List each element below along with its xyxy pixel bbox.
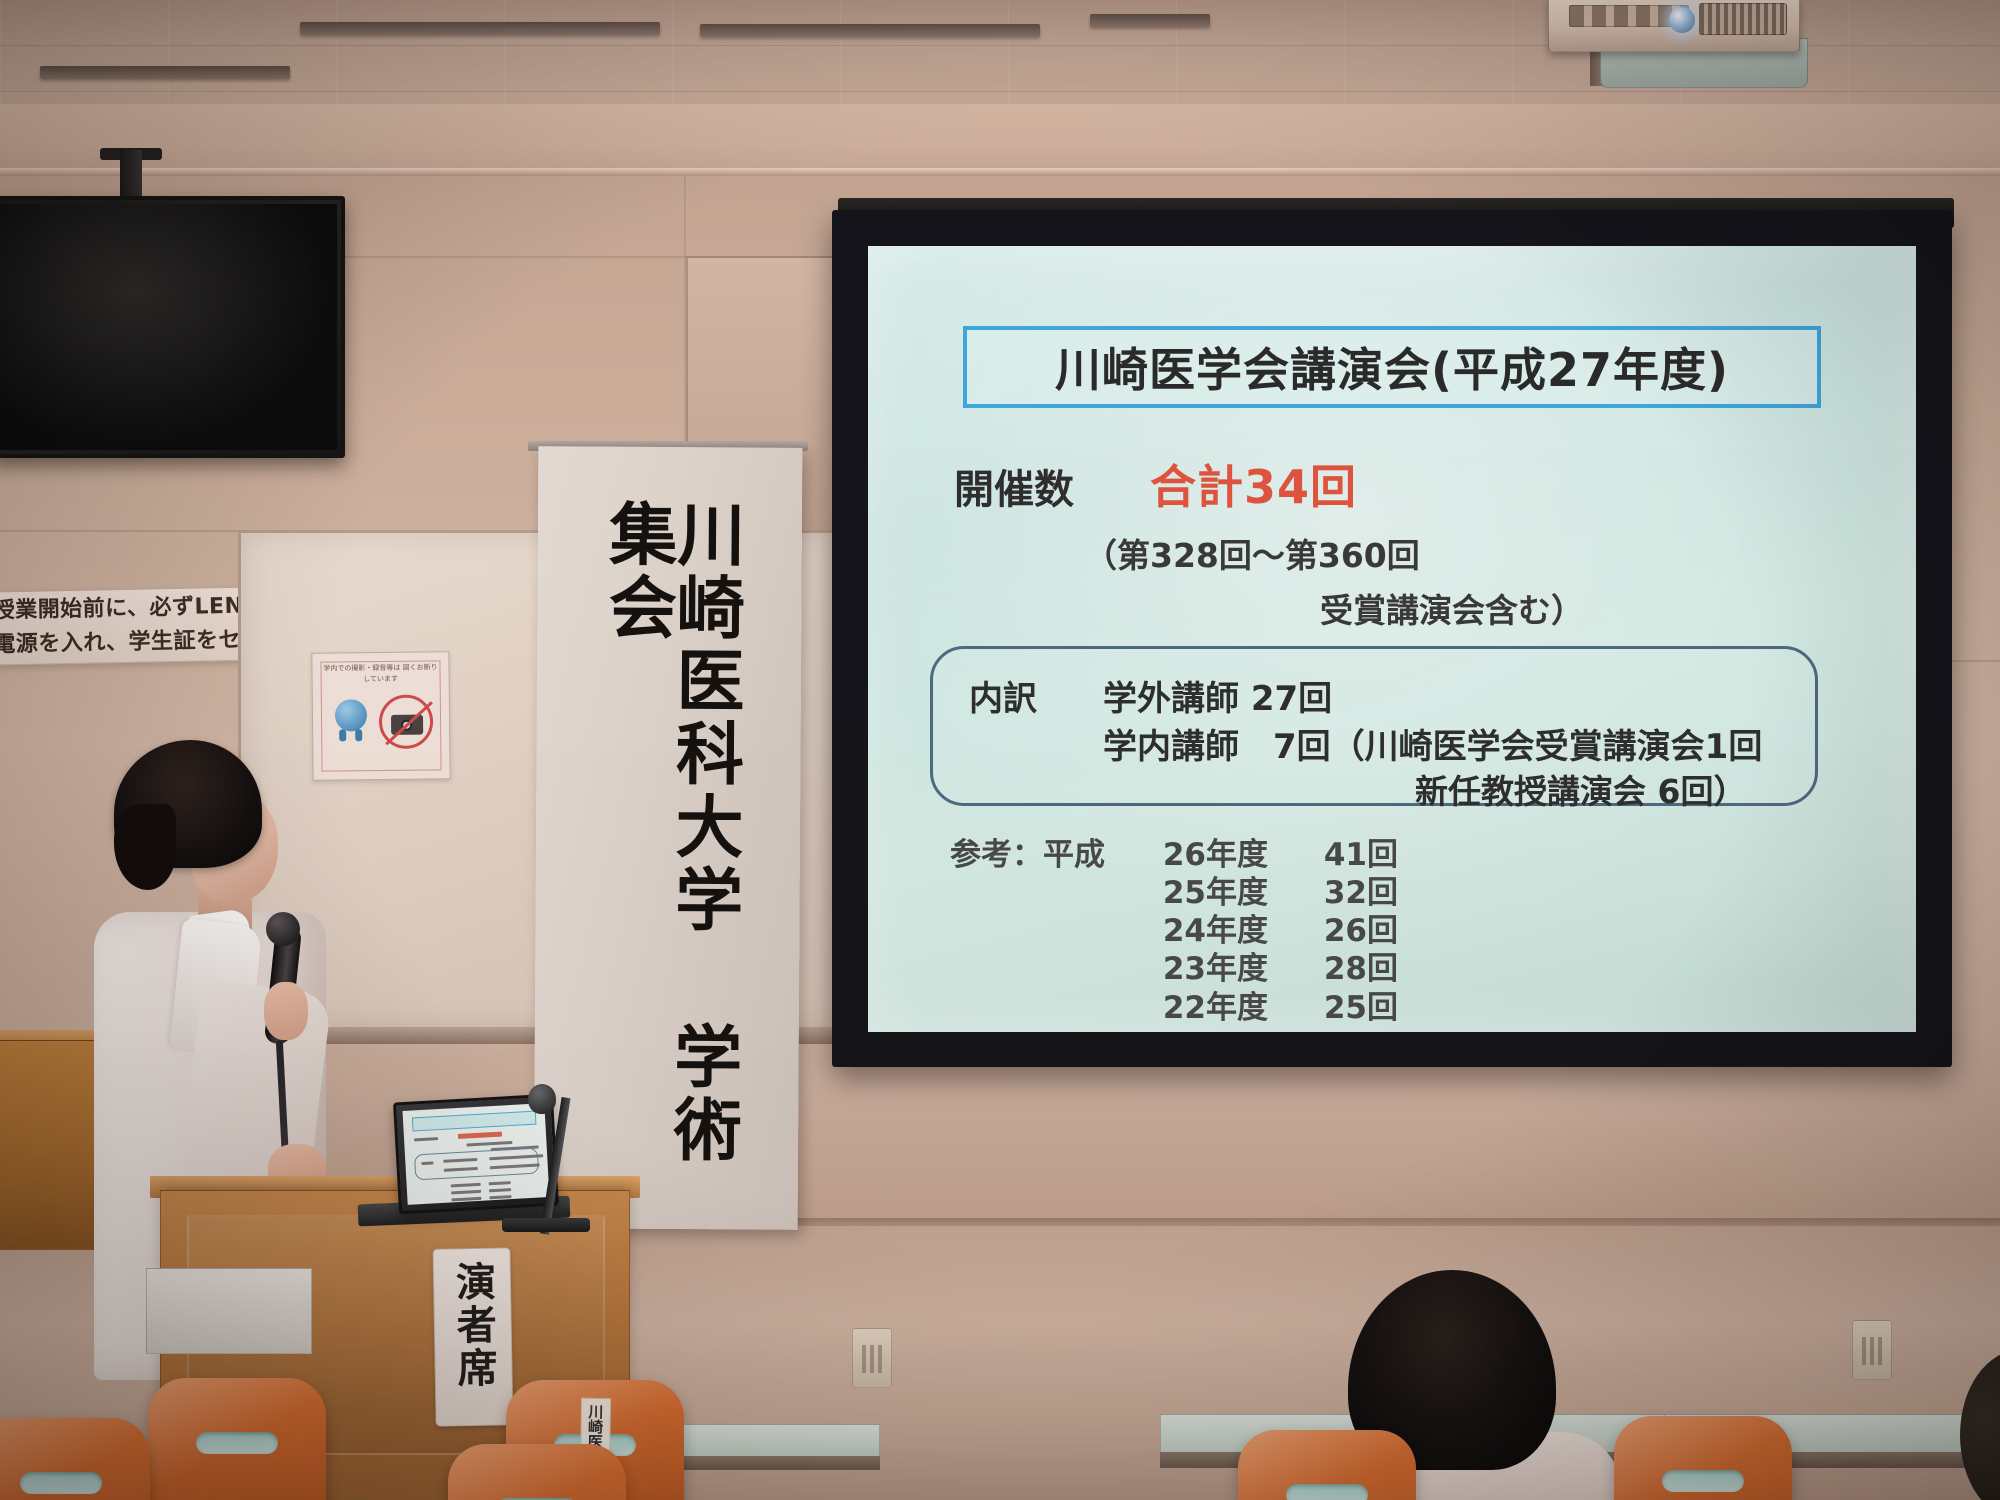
session-range-note: 受賞講演会含む） bbox=[1320, 584, 1584, 632]
lecture-hall-photo: 授業開始前に、必ずLENON端末の 電源を入れ、学生証をセットすること。 学内で… bbox=[0, 0, 2000, 1500]
laptop-mini-line bbox=[489, 1188, 511, 1192]
wall-power-outlet bbox=[1852, 1320, 1892, 1380]
chair-back-handle bbox=[20, 1472, 102, 1494]
breakdown-new-professor-lectures: 新任教授講演会 6回） bbox=[1415, 765, 1746, 813]
session-count-row: 開催数 合計34回 bbox=[954, 451, 1357, 517]
microphone-stand-base bbox=[502, 1218, 590, 1232]
laptop-mini-line bbox=[489, 1181, 511, 1185]
chair-back-handle bbox=[1662, 1470, 1744, 1492]
chair-highlight bbox=[448, 1444, 626, 1500]
breakdown-external-lecturers: 学外講師 27回 bbox=[1103, 671, 1332, 720]
reference-value: 25回 bbox=[1268, 989, 1398, 1027]
slide-title-box: 川崎医学会講演会(平成27年度) bbox=[963, 326, 1821, 408]
display-screen-off bbox=[0, 204, 337, 450]
reference-row: 23年度 28回 bbox=[950, 950, 1398, 988]
reference-row: 24年度 26回 bbox=[950, 912, 1398, 950]
audience-chair bbox=[448, 1444, 626, 1500]
reference-year: 23年度 bbox=[1096, 950, 1268, 988]
mascot-leg bbox=[355, 729, 362, 741]
reference-year: 25年度 bbox=[1096, 874, 1268, 912]
presenter-hair-side bbox=[114, 804, 176, 890]
microphone-head-icon bbox=[266, 912, 300, 946]
wall-seam bbox=[1952, 660, 2000, 662]
no-photography-caption: 学内での撮影・録音等は 固くお断りしています bbox=[322, 662, 438, 689]
projector-vent bbox=[1699, 3, 1787, 35]
laptop-mini-line bbox=[451, 1183, 481, 1188]
ceiling-light-slot bbox=[1090, 14, 1210, 27]
session-count-label: 開催数 bbox=[954, 457, 1074, 515]
speaker-seat-label: 演者席 bbox=[443, 1261, 503, 1391]
audience-chair bbox=[1614, 1416, 1792, 1500]
podium-microphone-head-icon bbox=[528, 1084, 556, 1114]
laptop-mini-accent-line bbox=[458, 1132, 502, 1139]
soffit-lip bbox=[0, 168, 2000, 176]
speaker-seat-sign: 演者席 bbox=[432, 1247, 513, 1426]
mascot-character-icon bbox=[331, 697, 372, 745]
projected-slide: 川崎医学会講演会(平成27年度) 開催数 合計34回 （第328回～第360回 … bbox=[868, 246, 1916, 1032]
reference-row: 参考：平成 26年度 41回 bbox=[950, 836, 1398, 874]
audience-chair bbox=[148, 1378, 326, 1500]
laptop-mini-line bbox=[466, 1141, 512, 1147]
ceiling-projector bbox=[1548, 0, 1800, 52]
reference-value: 32回 bbox=[1268, 874, 1398, 912]
reference-year: 24年度 bbox=[1096, 912, 1268, 950]
breakdown-internal-lecturers: 学内講師 7回（川崎医学会受賞講演会1回 bbox=[1103, 719, 1762, 768]
reference-value: 26回 bbox=[1268, 912, 1398, 950]
reference-value: 41回 bbox=[1268, 836, 1398, 874]
no-camera-icon bbox=[379, 694, 434, 749]
wall-mounted-display bbox=[0, 196, 345, 458]
audience-chair bbox=[1238, 1430, 1416, 1500]
projector-lens-icon bbox=[1669, 7, 1695, 33]
reference-row: 22年度 25回 bbox=[950, 989, 1398, 1027]
slide-title: 川崎医学会講演会(平成27年度) bbox=[1055, 334, 1729, 400]
reference-history-table: 参考：平成 26年度 41回 25年度 32回 24年度 26回 23年度 28… bbox=[950, 836, 1398, 1027]
presenter-hand-holding-mic bbox=[264, 982, 308, 1040]
white-equipment-box bbox=[146, 1268, 312, 1354]
chair-back-handle bbox=[1286, 1484, 1368, 1500]
reference-year: 22年度 bbox=[1096, 989, 1268, 1027]
laptop-mini-line bbox=[451, 1197, 481, 1202]
wall-power-outlet bbox=[852, 1328, 892, 1388]
laptop-mini-line bbox=[451, 1190, 481, 1195]
reference-row: 25年度 32回 bbox=[950, 874, 1398, 912]
session-count-total: 合計34回 bbox=[1150, 451, 1357, 517]
ceiling-light-slot bbox=[300, 22, 660, 35]
breakdown-box: 内訳 学外講師 27回 学内講師 7回（川崎医学会受賞講演会1回 新任教授講演会… bbox=[930, 646, 1818, 806]
chair-back-handle bbox=[196, 1432, 278, 1454]
reference-value: 28回 bbox=[1268, 950, 1398, 988]
laptop-mini-line bbox=[489, 1195, 511, 1199]
laptop-mini-line bbox=[414, 1137, 438, 1141]
mascot-body bbox=[335, 699, 367, 731]
reference-year: 26年度 bbox=[1096, 836, 1268, 874]
laptop-screen-mirroring-slide bbox=[402, 1103, 549, 1205]
breakdown-heading: 内訳 bbox=[969, 671, 1037, 720]
vertical-banner: 川崎医科大学 学術集会 bbox=[534, 446, 803, 1230]
banner-text: 川崎医科大学 学術集会 bbox=[598, 499, 738, 1230]
reference-lead-label: 参考：平成 bbox=[950, 836, 1096, 874]
ceiling-light-slot bbox=[700, 24, 1040, 37]
session-range-line: （第328回～第360回 bbox=[1084, 529, 1420, 577]
ceiling-light-slot bbox=[40, 66, 290, 79]
laptop-mini-title-box bbox=[412, 1111, 537, 1132]
audience-chair bbox=[0, 1418, 150, 1500]
